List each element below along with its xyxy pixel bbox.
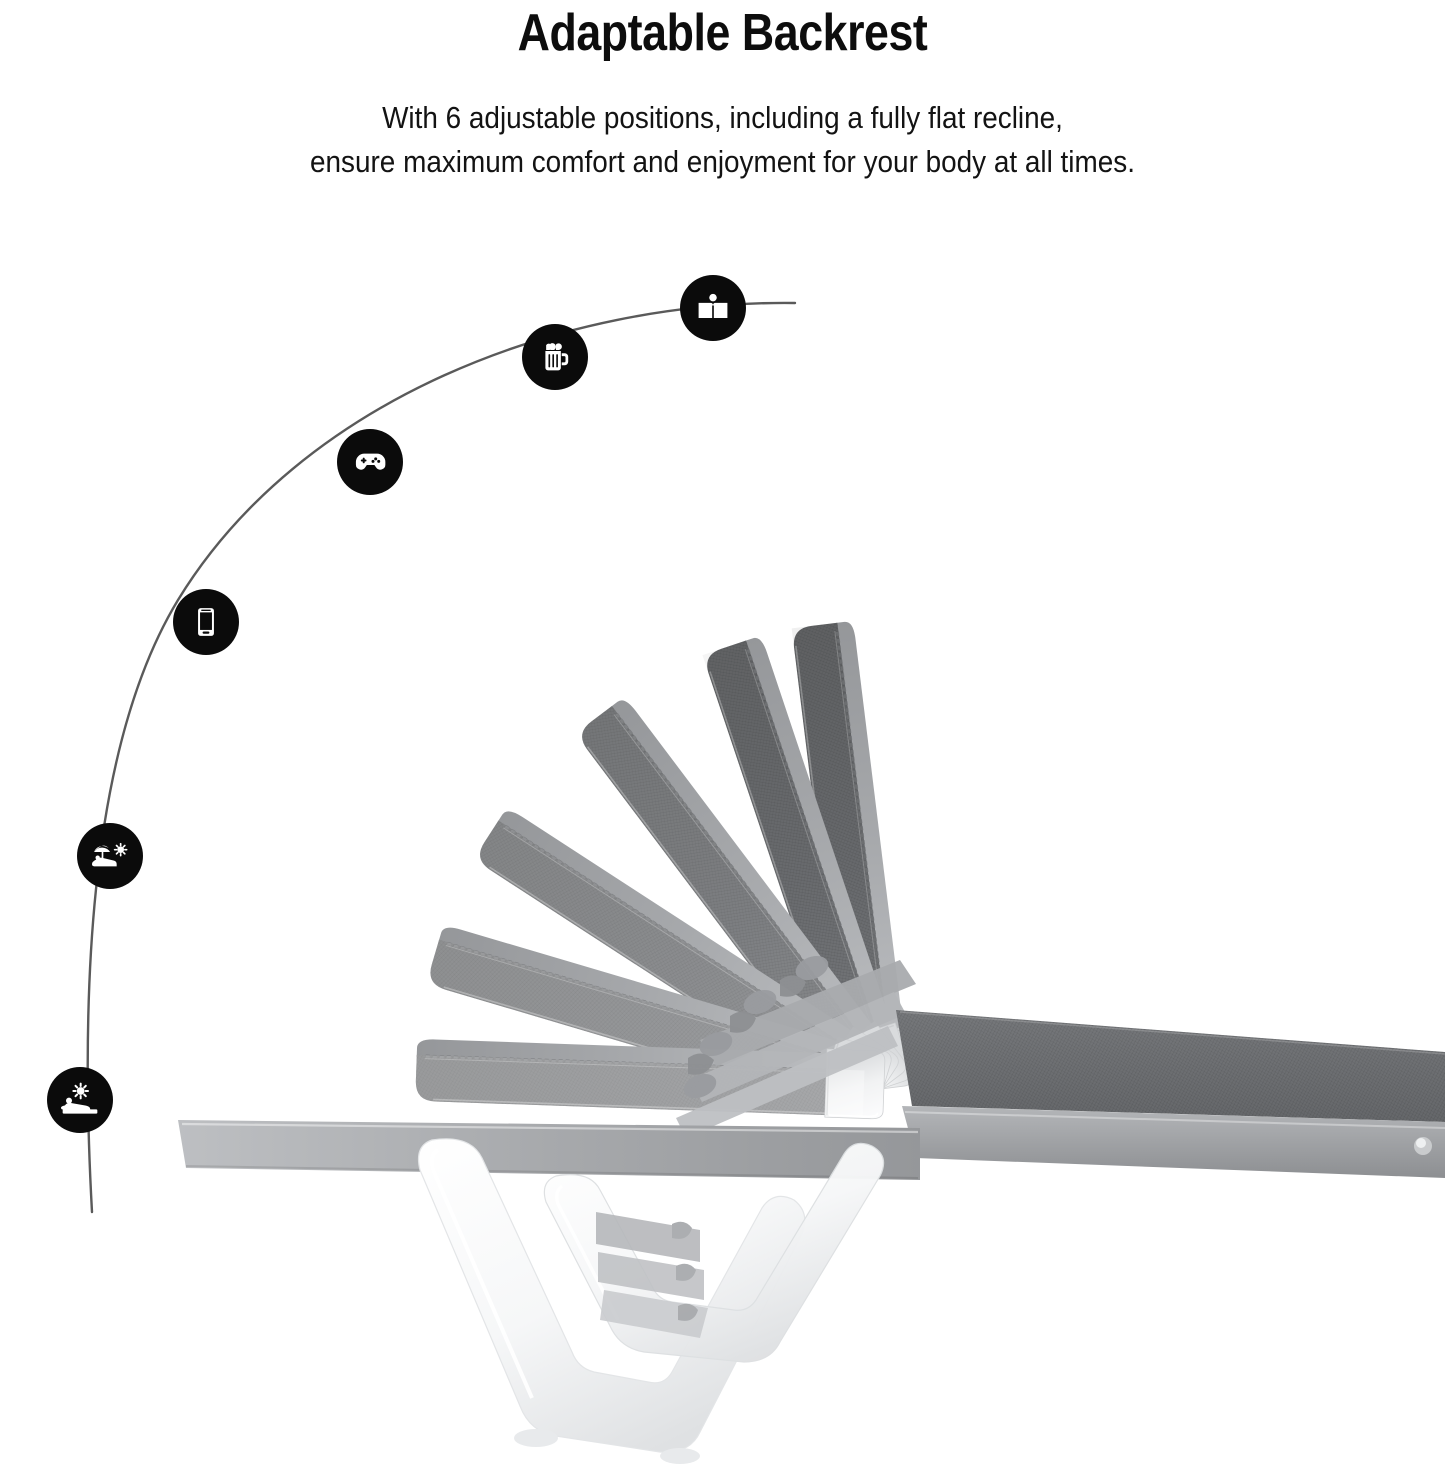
sun-lounger-icon[interactable] [47,1067,113,1133]
beer-mug-icon[interactable] [522,324,588,390]
foot-pad [660,1448,700,1464]
smartphone-icon[interactable] [173,589,239,655]
foot-pad [514,1429,558,1447]
seat-base [896,1010,1445,1178]
parasol-lounger-icon[interactable] [77,823,143,889]
product-illustration [0,0,1445,1468]
frame-rail-left [178,1120,920,1180]
chaise-lounge-chair [0,0,1445,1468]
lower-ratchet-teeth [596,1212,708,1338]
book-reading-icon[interactable] [680,275,746,341]
gamepad-icon[interactable] [337,429,403,495]
